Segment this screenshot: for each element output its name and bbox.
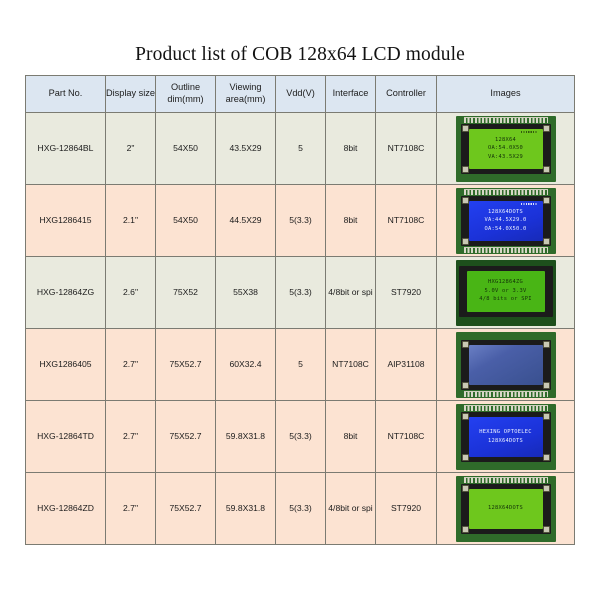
cell-image: 128X64DOTS [437, 473, 575, 545]
lcd-module-green-12864zg: HXG12864ZG 5.0V or 3.3V 4/8 bits or SPI [456, 260, 556, 326]
lcd-glass: HXG12864ZG 5.0V or 3.3V 4/8 bits or SPI [467, 271, 545, 312]
lcd-text-line: 128X64DOTS [488, 208, 523, 216]
cell-outline-dim: 75X52.7 [156, 329, 216, 401]
col-header-controller: Controller [376, 76, 437, 113]
lcd-glass: 128X64DOTS VA:44.5X29.0 OA:54.0X50.0 [469, 201, 543, 241]
cell-interface: 4/8bit or spi [326, 257, 376, 329]
screw-icon [462, 454, 469, 461]
cell-outline-dim: 54X50 [156, 185, 216, 257]
pin-header-icon [464, 189, 548, 195]
cell-display-size: 2" [106, 113, 156, 185]
cell-vdd: 5(3.3) [276, 185, 326, 257]
lcd-module-green-128x64bl: 128X64 OA:54.0X50 VA:43.5X29 [456, 116, 556, 182]
lcd-text-line: HXG12864ZG [488, 278, 523, 286]
screw-icon [462, 382, 469, 389]
cell-vdd: 5 [276, 329, 326, 401]
pin-header-icon [464, 477, 548, 483]
cell-outline-dim: 75X52.7 [156, 401, 216, 473]
page-title: Product list of COB 128x64 LCD module [0, 44, 600, 66]
table-header-row: Part No. Display size Outline dim(mm) Vi… [26, 76, 575, 113]
cell-vdd: 5 [276, 113, 326, 185]
screw-icon [462, 526, 469, 533]
lcd-text-line: VA:43.5X29 [488, 153, 523, 161]
cell-image: 128X64 OA:54.0X50 VA:43.5X29 [437, 113, 575, 185]
lcd-text-line: OA:54.0X50 [488, 144, 523, 152]
lcd-module-blue-blank-1286405 [456, 332, 556, 398]
lcd-bezel: HEXING OPTOELEC 128X64DOTS [461, 412, 551, 462]
col-header-display-size: Display size [106, 76, 156, 113]
screw-icon [543, 526, 550, 533]
screw-icon [543, 197, 550, 204]
col-header-viewing-area: Viewing area(mm) [216, 76, 276, 113]
cell-interface: 8bit [326, 401, 376, 473]
cell-controller: NT7108C [376, 113, 437, 185]
cell-interface: 8bit [326, 113, 376, 185]
cell-display-size: 2.1" [106, 185, 156, 257]
cell-part-no: HXG-12864BL [26, 113, 106, 185]
screw-icon [543, 485, 550, 492]
lcd-text-line: 4/8 bits or SPI [479, 295, 531, 303]
screw-icon [462, 166, 469, 173]
table-row: HXG1286415 2.1" 54X50 44.5X29 5(3.3) 8bi… [26, 185, 575, 257]
col-header-vdd: Vdd(V) [276, 76, 326, 113]
pin-header-icon [464, 391, 548, 397]
col-header-interface: Interface [326, 76, 376, 113]
screw-icon [462, 413, 469, 420]
cell-display-size: 2.7" [106, 329, 156, 401]
cell-image [437, 329, 575, 401]
pin-header-icon [464, 117, 548, 123]
lcd-bezel: HXG12864ZG 5.0V or 3.3V 4/8 bits or SPI [459, 266, 553, 317]
cell-vdd: 5(3.3) [276, 473, 326, 545]
lcd-glass: HEXING OPTOELEC 128X64DOTS [469, 417, 543, 457]
lcd-text-line: OA:54.0X50.0 [485, 225, 527, 233]
cell-viewing-area: 60X32.4 [216, 329, 276, 401]
screw-icon [462, 485, 469, 492]
cell-image: 128X64DOTS VA:44.5X29.0 OA:54.0X50.0 [437, 185, 575, 257]
col-header-images: Images [437, 76, 575, 113]
lcd-text-line: 128X64DOTS [488, 504, 523, 512]
cell-outline-dim: 75X52.7 [156, 473, 216, 545]
dot-matrix-icon [521, 131, 537, 134]
lcd-text-line: 128X64DOTS [488, 437, 523, 445]
screw-icon [462, 341, 469, 348]
cell-vdd: 5(3.3) [276, 401, 326, 473]
lcd-module-blue-12864td: HEXING OPTOELEC 128X64DOTS [456, 404, 556, 470]
pin-header-icon [464, 405, 548, 411]
cell-part-no: HXG-12864ZD [26, 473, 106, 545]
lcd-bezel: 128X64 OA:54.0X50 VA:43.5X29 [461, 124, 551, 174]
cell-part-no: HXG1286405 [26, 329, 106, 401]
cell-part-no: HXG-12864ZG [26, 257, 106, 329]
product-table-container: Part No. Display size Outline dim(mm) Vi… [25, 75, 574, 545]
cell-viewing-area: 59.8X31.8 [216, 473, 276, 545]
cell-outline-dim: 75X52 [156, 257, 216, 329]
lcd-module-green-12864zd: 128X64DOTS [456, 476, 556, 542]
screw-icon [543, 454, 550, 461]
lcd-glass [469, 345, 543, 385]
cell-part-no: HXG1286415 [26, 185, 106, 257]
cell-display-size: 2.7" [106, 401, 156, 473]
cell-viewing-area: 55X38 [216, 257, 276, 329]
cell-image: HEXING OPTOELEC 128X64DOTS [437, 401, 575, 473]
cell-display-size: 2.6" [106, 257, 156, 329]
cell-display-size: 2.7" [106, 473, 156, 545]
screw-icon [543, 341, 550, 348]
cell-controller: ST7920 [376, 257, 437, 329]
col-header-part-no: Part No. [26, 76, 106, 113]
cell-controller: NT7108C [376, 185, 437, 257]
dot-matrix-icon [521, 203, 537, 206]
cell-image: HXG12864ZG 5.0V or 3.3V 4/8 bits or SPI [437, 257, 575, 329]
product-table-body: HXG-12864BL 2" 54X50 43.5X29 5 8bit NT71… [26, 113, 575, 545]
screw-icon [462, 238, 469, 245]
table-row: HXG-12864ZG 2.6" 75X52 55X38 5(3.3) 4/8b… [26, 257, 575, 329]
screw-icon [462, 197, 469, 204]
lcd-text-line: VA:44.5X29.0 [485, 216, 527, 224]
screw-icon [543, 413, 550, 420]
table-row: HXG-12864ZD 2.7" 75X52.7 59.8X31.8 5(3.3… [26, 473, 575, 545]
lcd-bezel [461, 340, 551, 390]
cell-interface: 8bit [326, 185, 376, 257]
cell-controller: AIP31108 [376, 329, 437, 401]
lcd-text-line: HEXING OPTOELEC [479, 428, 531, 436]
screw-icon [543, 166, 550, 173]
screw-icon [543, 382, 550, 389]
cell-viewing-area: 59.8X31.8 [216, 401, 276, 473]
table-row: HXG1286405 2.7" 75X52.7 60X32.4 5 NT7108… [26, 329, 575, 401]
lcd-bezel: 128X64DOTS VA:44.5X29.0 OA:54.0X50.0 [461, 196, 551, 246]
lcd-bezel: 128X64DOTS [461, 484, 551, 534]
cell-interface: 4/8bit or spi [326, 473, 376, 545]
pin-header-icon [464, 247, 548, 253]
cell-part-no: HXG-12864TD [26, 401, 106, 473]
table-row: HXG-12864BL 2" 54X50 43.5X29 5 8bit NT71… [26, 113, 575, 185]
page-root: Product list of COB 128x64 LCD module Pa… [0, 0, 600, 600]
cell-viewing-area: 44.5X29 [216, 185, 276, 257]
lcd-glass: 128X64DOTS [469, 489, 543, 529]
screw-icon [543, 125, 550, 132]
table-row: HXG-12864TD 2.7" 75X52.7 59.8X31.8 5(3.3… [26, 401, 575, 473]
col-header-outline-dim: Outline dim(mm) [156, 76, 216, 113]
product-table: Part No. Display size Outline dim(mm) Vi… [25, 75, 575, 545]
cell-vdd: 5(3.3) [276, 257, 326, 329]
lcd-module-blue-128x6415: 128X64DOTS VA:44.5X29.0 OA:54.0X50.0 [456, 188, 556, 254]
lcd-text-line: 5.0V or 3.3V [485, 287, 527, 295]
cell-interface: NT7108C [326, 329, 376, 401]
cell-controller: ST7920 [376, 473, 437, 545]
lcd-text-line: 128X64 [495, 136, 516, 144]
screw-icon [543, 238, 550, 245]
cell-viewing-area: 43.5X29 [216, 113, 276, 185]
lcd-glass: 128X64 OA:54.0X50 VA:43.5X29 [469, 129, 543, 169]
screw-icon [462, 125, 469, 132]
cell-outline-dim: 54X50 [156, 113, 216, 185]
cell-controller: NT7108C [376, 401, 437, 473]
